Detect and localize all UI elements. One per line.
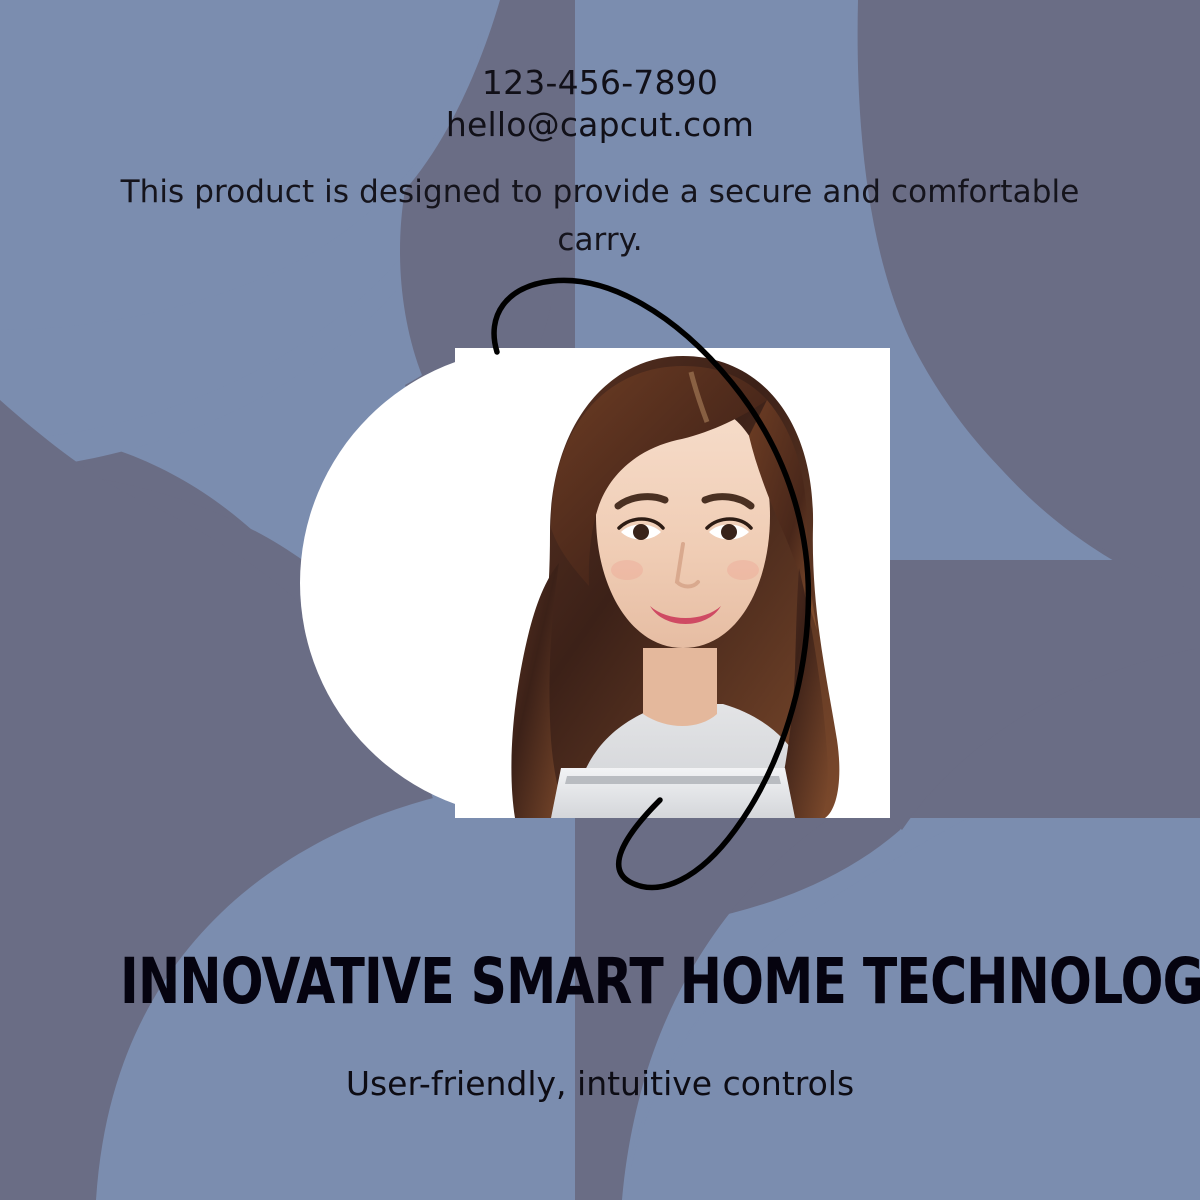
photo-composite (300, 348, 890, 818)
subtitle: User-friendly, intuitive controls (0, 1062, 1200, 1106)
product-description: This product is designed to provide a se… (95, 168, 1105, 264)
email-address: hello@capcut.com (0, 104, 1200, 146)
page-title: INNOVATIVE SMART HOME TECHNOLOGY (120, 947, 1080, 1017)
contact-block: 123-456-7890 hello@capcut.com (0, 62, 1200, 146)
phone-number: 123-456-7890 (0, 62, 1200, 104)
poster-canvas: 123-456-7890 hello@capcut.com This produ… (0, 0, 1200, 1200)
portrait-photo (455, 348, 890, 818)
